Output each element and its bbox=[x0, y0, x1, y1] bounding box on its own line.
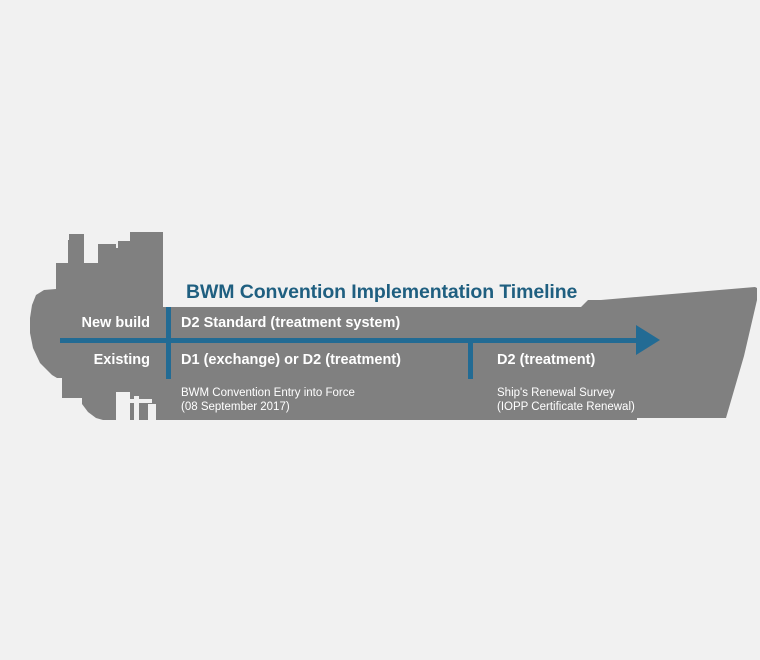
phase-label-newbuild-d2: D2 Standard (treatment system) bbox=[181, 315, 400, 331]
figure-canvas: BWM Convention Implementation Timeline N… bbox=[0, 0, 760, 660]
milestone-marker-entry-into-force bbox=[166, 307, 171, 379]
milestone-title: BWM Convention Entry into Force bbox=[181, 386, 355, 400]
milestone-date: (08 September 2017) bbox=[181, 400, 355, 414]
row-label-existing: Existing bbox=[40, 352, 150, 368]
milestone-detail: (IOPP Certificate Renewal) bbox=[497, 400, 635, 414]
page-title: BWM Convention Implementation Timeline bbox=[186, 281, 577, 304]
milestone-annotation-renewal-survey: Ship's Renewal Survey (IOPP Certificate … bbox=[497, 386, 635, 414]
milestone-title: Ship's Renewal Survey bbox=[497, 386, 635, 400]
phase-label-existing-d2: D2 (treatment) bbox=[497, 352, 595, 368]
milestone-annotation-entry-into-force: BWM Convention Entry into Force (08 Sept… bbox=[181, 386, 355, 414]
timeline-axis-line bbox=[60, 338, 650, 343]
timeline-arrow-icon bbox=[636, 325, 660, 355]
timeline-overlay: BWM Convention Implementation Timeline N… bbox=[0, 0, 760, 660]
row-label-new-build: New build bbox=[40, 315, 150, 331]
phase-label-existing-d1-or-d2: D1 (exchange) or D2 (treatment) bbox=[181, 352, 401, 368]
milestone-marker-renewal-survey bbox=[468, 341, 473, 379]
